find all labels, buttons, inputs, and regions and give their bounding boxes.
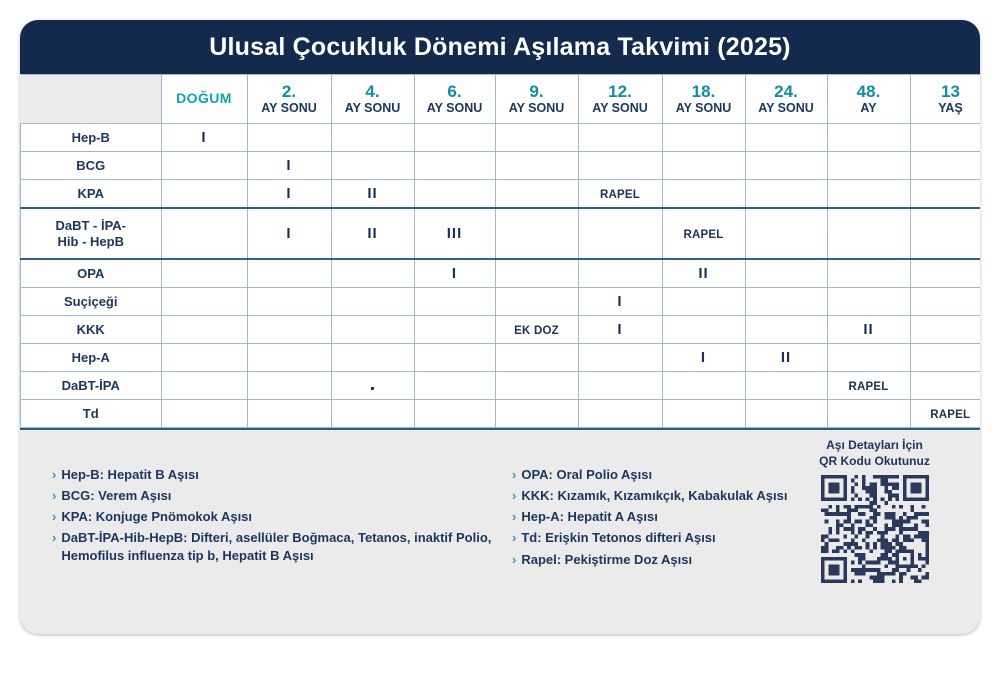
- legend-item-text: Hep-A: Hepatit A Aşısı: [521, 508, 832, 525]
- qr-block: Aşı Detayları İçin QR Kodu Okutunuz: [797, 438, 952, 583]
- schedule-cell-filled: II: [331, 208, 414, 259]
- title-bar: Ulusal Çocukluk Dönemi Aşılama Takvimi (…: [20, 20, 980, 74]
- chevron-right-icon: ›: [52, 466, 56, 483]
- dot-artifact: [371, 387, 374, 390]
- schedule-cell-empty: [247, 124, 331, 152]
- schedule-cell-empty: [247, 316, 331, 344]
- schedule-cell-empty: [745, 180, 827, 209]
- chevron-right-icon: ›: [512, 466, 516, 483]
- table-row: Hep-BI: [21, 124, 981, 152]
- schedule-cell-empty: [414, 316, 495, 344]
- legend-item: ›OPA: Oral Polio Aşısı: [512, 466, 832, 483]
- legend-item: ›KKK: Kızamık, Kızamıkçık, Kabakulak Aşı…: [512, 487, 832, 504]
- schedule-cell-empty: [161, 180, 247, 209]
- schedule-cell-empty: [161, 288, 247, 316]
- header-row-label: [21, 75, 162, 124]
- schedule-cell-empty: [161, 152, 247, 180]
- dose-marker: RAPEL: [600, 189, 640, 201]
- schedule-cell-empty: [745, 400, 827, 428]
- schedule-cell-filled: I: [578, 288, 662, 316]
- schedule-cell-empty: [495, 259, 578, 288]
- schedule-cell-empty: [827, 208, 910, 259]
- schedule-cell-empty: [331, 152, 414, 180]
- row-label: Suçiçeği: [21, 288, 162, 316]
- schedule-cell-filled: I: [247, 208, 331, 259]
- schedule-cell-filled: I: [247, 180, 331, 209]
- chevron-right-icon: ›: [512, 508, 516, 525]
- legend-item-text: Hep-B: Hepatit B Aşısı: [61, 466, 522, 483]
- column-header-4-ay-sonu: 4.AY SONU: [331, 75, 414, 124]
- column-header-number: 9.: [496, 83, 578, 101]
- schedule-cell-empty: [495, 288, 578, 316]
- schedule-cell-empty: [414, 180, 495, 209]
- schedule-cell-empty: [745, 316, 827, 344]
- schedule-cell-empty: [495, 180, 578, 209]
- schedule-cell-empty: [578, 152, 662, 180]
- schedule-cell-filled: RAPEL: [910, 400, 980, 428]
- qr-caption-line2: QR Kodu Okutunuz: [819, 454, 930, 468]
- dose-marker: II: [367, 225, 377, 242]
- schedule-cell-empty: [910, 372, 980, 400]
- schedule-cell-filled: RAPEL: [578, 180, 662, 209]
- row-label: OPA: [21, 259, 162, 288]
- schedule-cell-filled: I: [161, 124, 247, 152]
- column-header-6-ay-sonu: 6.AY SONU: [414, 75, 495, 124]
- header-row: DOĞUM2.AY SONU4.AY SONU6.AY SONU9.AY SON…: [21, 75, 981, 124]
- legend-item-text: BCG: Verem Aşısı: [61, 487, 522, 504]
- schedule-cell-empty: [331, 316, 414, 344]
- column-header-unit: AY SONU: [332, 102, 414, 116]
- chevron-right-icon: ›: [512, 551, 516, 568]
- column-header-number: 18.: [663, 83, 745, 101]
- dose-marker: I: [617, 321, 622, 338]
- schedule-cell-empty: [745, 208, 827, 259]
- schedule-cell-empty: [161, 344, 247, 372]
- table-row: DaBT - İPA-Hib - HepBIIIIIIRAPEL: [21, 208, 981, 259]
- column-header-unit: AY SONU: [415, 102, 495, 116]
- schedule-cell-empty: [578, 344, 662, 372]
- qr-code-icon[interactable]: [821, 475, 929, 583]
- column-header-unit: AY SONU: [579, 102, 662, 116]
- legend-item-text: Td: Erişkin Tetonos difteri Aşısı: [521, 529, 832, 546]
- schedule-cell-empty: [910, 208, 980, 259]
- column-header-number: 4.: [332, 83, 414, 101]
- schedule-cell-empty: [161, 208, 247, 259]
- schedule-cell-filled: [331, 372, 414, 400]
- column-header-number: 48.: [828, 83, 910, 101]
- schedule-cell-filled: I: [247, 152, 331, 180]
- schedule-cell-empty: [414, 400, 495, 428]
- column-header-number: 6.: [415, 83, 495, 101]
- chevron-right-icon: ›: [512, 529, 516, 546]
- schedule-cell-empty: [331, 124, 414, 152]
- schedule-cell-filled: I: [662, 344, 745, 372]
- row-label: Hep-A: [21, 344, 162, 372]
- column-header-48-ay: 48.AY: [827, 75, 910, 124]
- row-label: DaBT - İPA-Hib - HepB: [21, 208, 162, 259]
- schedule-cell-empty: [910, 316, 980, 344]
- schedule-cell-empty: [662, 316, 745, 344]
- schedule-cell-empty: [662, 124, 745, 152]
- legend-item-text: Rapel: Pekiştirme Doz Aşısı: [521, 551, 832, 568]
- schedule-cell-filled: I: [414, 259, 495, 288]
- schedule-cell-empty: [495, 400, 578, 428]
- dose-marker: II: [698, 265, 708, 282]
- column-header-unit: AY SONU: [663, 102, 745, 116]
- column-header-number: 12.: [579, 83, 662, 101]
- schedule-cell-empty: [578, 259, 662, 288]
- chevron-right-icon: ›: [52, 508, 56, 525]
- schedule-cell-empty: [247, 400, 331, 428]
- row-label: Hep-B: [21, 124, 162, 152]
- dose-marker: II: [367, 185, 377, 202]
- schedule-cell-empty: [414, 288, 495, 316]
- chevron-right-icon: ›: [52, 529, 56, 546]
- row-label: BCG: [21, 152, 162, 180]
- legend-item-text: KPA: Konjuge Pnömokok Aşısı: [61, 508, 522, 525]
- column-header-12-ay-sonu: 12.AY SONU: [578, 75, 662, 124]
- schedule-cell-empty: [662, 400, 745, 428]
- schedule-cell-empty: [578, 372, 662, 400]
- schedule-cell-filled: RAPEL: [827, 372, 910, 400]
- column-header-unit: YAŞ: [911, 102, 981, 116]
- schedule-cell-empty: [910, 288, 980, 316]
- dose-marker: I: [286, 225, 291, 242]
- schedule-cell-empty: [745, 259, 827, 288]
- row-label: DaBT-İPA: [21, 372, 162, 400]
- schedule-cell-empty: [331, 400, 414, 428]
- table-header: DOĞUM2.AY SONU4.AY SONU6.AY SONU9.AY SON…: [21, 75, 981, 124]
- dose-marker: I: [701, 349, 706, 366]
- schedule-cell-empty: [745, 288, 827, 316]
- schedule-cell-empty: [414, 344, 495, 372]
- schedule-cell-empty: [745, 152, 827, 180]
- schedule-cell-empty: [827, 124, 910, 152]
- column-header-unit: AY SONU: [746, 102, 827, 116]
- table-row: SuçiçeğiI: [21, 288, 981, 316]
- column-header-number: 24.: [746, 83, 827, 101]
- dose-marker: RAPEL: [684, 229, 724, 241]
- schedule-cell-empty: [414, 152, 495, 180]
- schedule-cell-filled: II: [827, 316, 910, 344]
- dose-marker: II: [863, 321, 873, 338]
- column-header-18-ay-sonu: 18.AY SONU: [662, 75, 745, 124]
- schedule-cell-empty: [161, 316, 247, 344]
- legend-item: ›Hep-A: Hepatit A Aşısı: [512, 508, 832, 525]
- dose-marker: I: [452, 265, 457, 282]
- table-row: KKKEK DOZIII: [21, 316, 981, 344]
- schedule-cell-empty: [331, 344, 414, 372]
- schedule-cell-filled: EK DOZ: [495, 316, 578, 344]
- schedule-cell-empty: [662, 372, 745, 400]
- schedule-cell-empty: [495, 344, 578, 372]
- chevron-right-icon: ›: [512, 487, 516, 504]
- legend-item: ›KPA: Konjuge Pnömokok Aşısı: [52, 508, 522, 525]
- dose-marker: I: [617, 293, 622, 310]
- schedule-cell-empty: [910, 344, 980, 372]
- schedule-cell-empty: [827, 288, 910, 316]
- schedule-cell-empty: [414, 124, 495, 152]
- legend-item: ›BCG: Verem Aşısı: [52, 487, 522, 504]
- schedule-cell-filled: II: [662, 259, 745, 288]
- schedule-cell-empty: [827, 400, 910, 428]
- dose-marker: RAPEL: [930, 409, 970, 421]
- schedule-cell-filled: III: [414, 208, 495, 259]
- schedule-cell-empty: [247, 372, 331, 400]
- schedule-cell-empty: [662, 180, 745, 209]
- schedule-cell-empty: [247, 344, 331, 372]
- schedule-cell-empty: [662, 288, 745, 316]
- schedule-cell-empty: [495, 372, 578, 400]
- schedule-cell-empty: [745, 124, 827, 152]
- schedule-cell-empty: [827, 344, 910, 372]
- table-row: TdRAPEL: [21, 400, 981, 428]
- table-row: DaBT-İPARAPEL: [21, 372, 981, 400]
- column-header-unit: AY: [828, 102, 910, 116]
- schedule-cell-empty: [578, 124, 662, 152]
- row-label: KPA: [21, 180, 162, 209]
- schedule-cell-empty: [331, 259, 414, 288]
- legend-item: ›Td: Erişkin Tetonos difteri Aşısı: [512, 529, 832, 546]
- legend-item: ›Hep-B: Hepatit B Aşısı: [52, 466, 522, 483]
- legend-item-text: OPA: Oral Polio Aşısı: [521, 466, 832, 483]
- column-header-label: DOĞUM: [176, 90, 232, 106]
- legend-item-text: KKK: Kızamık, Kızamıkçık, Kabakulak Aşıs…: [521, 487, 832, 504]
- vaccination-schedule-card: Ulusal Çocukluk Dönemi Aşılama Takvimi (…: [20, 20, 980, 634]
- page-title: Ulusal Çocukluk Dönemi Aşılama Takvimi (…: [209, 33, 790, 62]
- column-header-number: 2.: [248, 83, 331, 101]
- column-header-unit: AY SONU: [496, 102, 578, 116]
- table-row: BCGI: [21, 152, 981, 180]
- schedule-cell-filled: II: [331, 180, 414, 209]
- column-header-2-ay-sonu: 2.AY SONU: [247, 75, 331, 124]
- schedule-cell-empty: [495, 124, 578, 152]
- legend-column-left: ›Hep-B: Hepatit B Aşısı›BCG: Verem Aşısı…: [52, 466, 522, 568]
- row-label: Td: [21, 400, 162, 428]
- schedule-cell-empty: [247, 259, 331, 288]
- column-header-number: 13: [911, 83, 981, 101]
- table-row: Hep-AIII: [21, 344, 981, 372]
- legend-item: ›Rapel: Pekiştirme Doz Aşısı: [512, 551, 832, 568]
- schedule-cell-empty: [495, 152, 578, 180]
- schedule-cell-empty: [827, 152, 910, 180]
- row-label: KKK: [21, 316, 162, 344]
- schedule-cell-empty: [578, 208, 662, 259]
- qr-caption: Aşı Detayları İçin QR Kodu Okutunuz: [797, 438, 952, 469]
- schedule-cell-empty: [578, 400, 662, 428]
- column-header-9-ay-sonu: 9.AY SONU: [495, 75, 578, 124]
- vaccination-schedule-table: DOĞUM2.AY SONU4.AY SONU6.AY SONU9.AY SON…: [20, 74, 980, 428]
- schedule-cell-empty: [331, 288, 414, 316]
- schedule-cell-empty: [910, 180, 980, 209]
- dose-marker: I: [286, 157, 291, 174]
- table-row: OPAIII: [21, 259, 981, 288]
- column-header-unit: AY SONU: [248, 102, 331, 116]
- dose-marker: EK DOZ: [514, 325, 559, 337]
- dose-marker: III: [447, 225, 463, 242]
- schedule-cell-empty: [910, 259, 980, 288]
- dose-marker: II: [781, 349, 791, 366]
- schedule-cell-empty: [745, 372, 827, 400]
- schedule-cell-empty: [910, 152, 980, 180]
- schedule-cell-filled: I: [578, 316, 662, 344]
- schedule-cell-empty: [414, 372, 495, 400]
- dose-marker: I: [201, 129, 206, 146]
- schedule-cell-empty: [827, 180, 910, 209]
- schedule-cell-empty: [247, 288, 331, 316]
- schedule-cell-empty: [161, 372, 247, 400]
- schedule-cell-empty: [910, 124, 980, 152]
- dose-marker: I: [286, 185, 291, 202]
- table-row: KPAIIIRAPEL: [21, 180, 981, 209]
- column-header-24-ay-sonu: 24.AY SONU: [745, 75, 827, 124]
- legend-item: ›DaBT-İPA-Hib-HepB: Difteri, asellüler B…: [52, 529, 522, 563]
- legend-section: ›Hep-B: Hepatit B Aşısı›BCG: Verem Aşısı…: [20, 428, 980, 605]
- dose-marker: RAPEL: [849, 381, 889, 393]
- legend-column-right: ›OPA: Oral Polio Aşısı›KKK: Kızamık, Kız…: [512, 466, 832, 572]
- schedule-cell-empty: [161, 259, 247, 288]
- chevron-right-icon: ›: [52, 487, 56, 504]
- schedule-cell-empty: [662, 152, 745, 180]
- qr-caption-line1: Aşı Detayları İçin: [826, 438, 923, 452]
- column-header-dogum: DOĞUM: [161, 75, 247, 124]
- column-header-13-yaş: 13YAŞ: [910, 75, 980, 124]
- legend-item-text: DaBT-İPA-Hib-HepB: Difteri, asellüler Bo…: [61, 529, 522, 563]
- schedule-cell-filled: II: [745, 344, 827, 372]
- schedule-cell-filled: RAPEL: [662, 208, 745, 259]
- schedule-cell-empty: [161, 400, 247, 428]
- schedule-cell-empty: [495, 208, 578, 259]
- table-body: Hep-BIBCGIKPAIIIRAPELDaBT - İPA-Hib - He…: [21, 124, 981, 428]
- schedule-cell-empty: [827, 259, 910, 288]
